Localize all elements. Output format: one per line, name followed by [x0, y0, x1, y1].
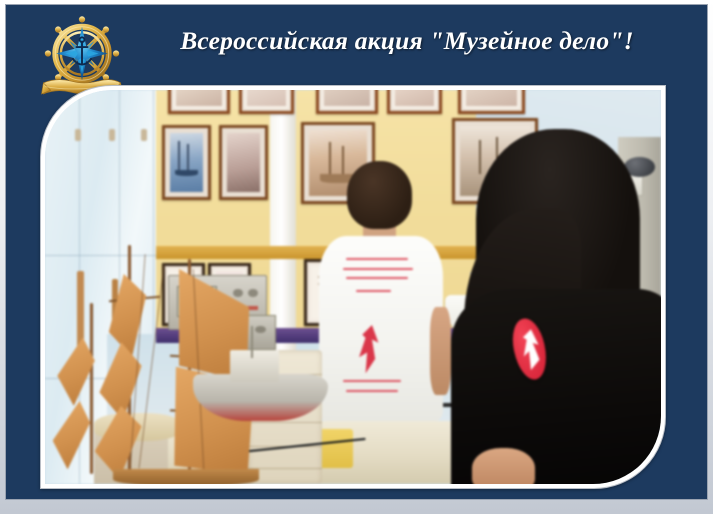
framed-picture	[458, 90, 526, 114]
woman-with-dark-hair	[464, 129, 661, 484]
museum-photo-frame	[40, 85, 666, 489]
slide-outer-frame: Всероссийская акция "Музейное дело"!	[0, 0, 713, 514]
page-title: Всероссийская акция "Музейное дело"!	[137, 26, 677, 56]
slide-canvas: Всероссийская акция "Музейное дело"!	[7, 6, 706, 498]
framed-picture	[316, 90, 378, 114]
shirt-flame-logo-icon	[351, 325, 383, 388]
framed-picture	[239, 90, 294, 114]
boy-in-white-shirt	[316, 161, 445, 421]
photo-scene	[45, 90, 661, 484]
boy-shirt	[319, 236, 443, 421]
framed-picture-ship-painting	[162, 125, 211, 200]
framed-picture	[219, 125, 268, 200]
grey-ship-superstructure	[230, 350, 279, 382]
framed-picture	[387, 90, 442, 114]
woman-hand	[472, 448, 535, 484]
framed-picture	[168, 90, 230, 114]
grey-ship-mast	[251, 326, 253, 358]
museum-exhibition-photo	[45, 90, 661, 484]
boy-head	[347, 161, 412, 229]
